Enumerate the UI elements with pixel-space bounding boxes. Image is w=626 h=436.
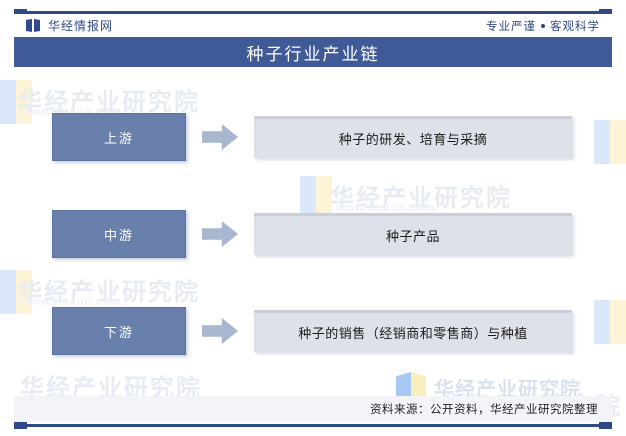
arrow-slot: [186, 113, 254, 161]
stage-box-upstream[interactable]: 上游: [52, 113, 186, 161]
stage-box-midstream[interactable]: 中游: [52, 210, 186, 258]
infographic-page: 华经产业研究院 www.huaon.com 华经产业研究院 www.huaon.…: [0, 0, 626, 436]
brand[interactable]: 华经情报网: [26, 17, 113, 34]
page-header: 华经情报网 专业严谨 客观科学: [14, 14, 612, 37]
title-band: 种子行业产业链: [14, 37, 612, 67]
description-box-upstream[interactable]: 种子的研发、培育与采摘: [254, 116, 572, 158]
description-box-downstream[interactable]: 种子的销售（经销商和零售商）与种植: [254, 310, 572, 352]
arrow-right-icon: [202, 318, 238, 344]
description-box-midstream[interactable]: 种子产品: [254, 213, 572, 255]
stage-box-downstream[interactable]: 下游: [52, 307, 186, 355]
arrow-right-icon: [202, 221, 238, 247]
slogan-right: 客观科学: [550, 18, 600, 34]
stage-label: 下游: [104, 322, 134, 341]
description-label: 种子的研发、培育与采摘: [339, 129, 488, 148]
page-title: 种子行业产业链: [247, 40, 380, 65]
stage-label: 中游: [104, 225, 134, 244]
arrow-right-icon: [202, 124, 238, 150]
open-book-icon: [26, 19, 41, 32]
arrow-slot: [186, 210, 254, 258]
slogan-left: 专业严谨: [486, 18, 536, 34]
chain-row: 下游 种子的销售（经销商和零售商）与种植: [52, 307, 572, 355]
brand-name: 华经情报网: [48, 17, 113, 34]
stage-label: 上游: [104, 128, 134, 147]
bullet-dot-icon: [541, 24, 545, 28]
chain-row: 中游 种子产品: [52, 210, 572, 258]
description-label: 种子产品: [386, 226, 440, 245]
arrow-slot: [186, 307, 254, 355]
chain-row: 上游 种子的研发、培育与采摘: [52, 113, 572, 161]
description-label: 种子的销售（经销商和零售商）与种植: [298, 323, 528, 342]
footer-band: 资料来源：公开资料，华经产业研究院整理: [14, 396, 612, 422]
slogan: 专业严谨 客观科学: [486, 18, 600, 34]
source-text: 资料来源：公开资料，华经产业研究院整理: [370, 401, 598, 417]
